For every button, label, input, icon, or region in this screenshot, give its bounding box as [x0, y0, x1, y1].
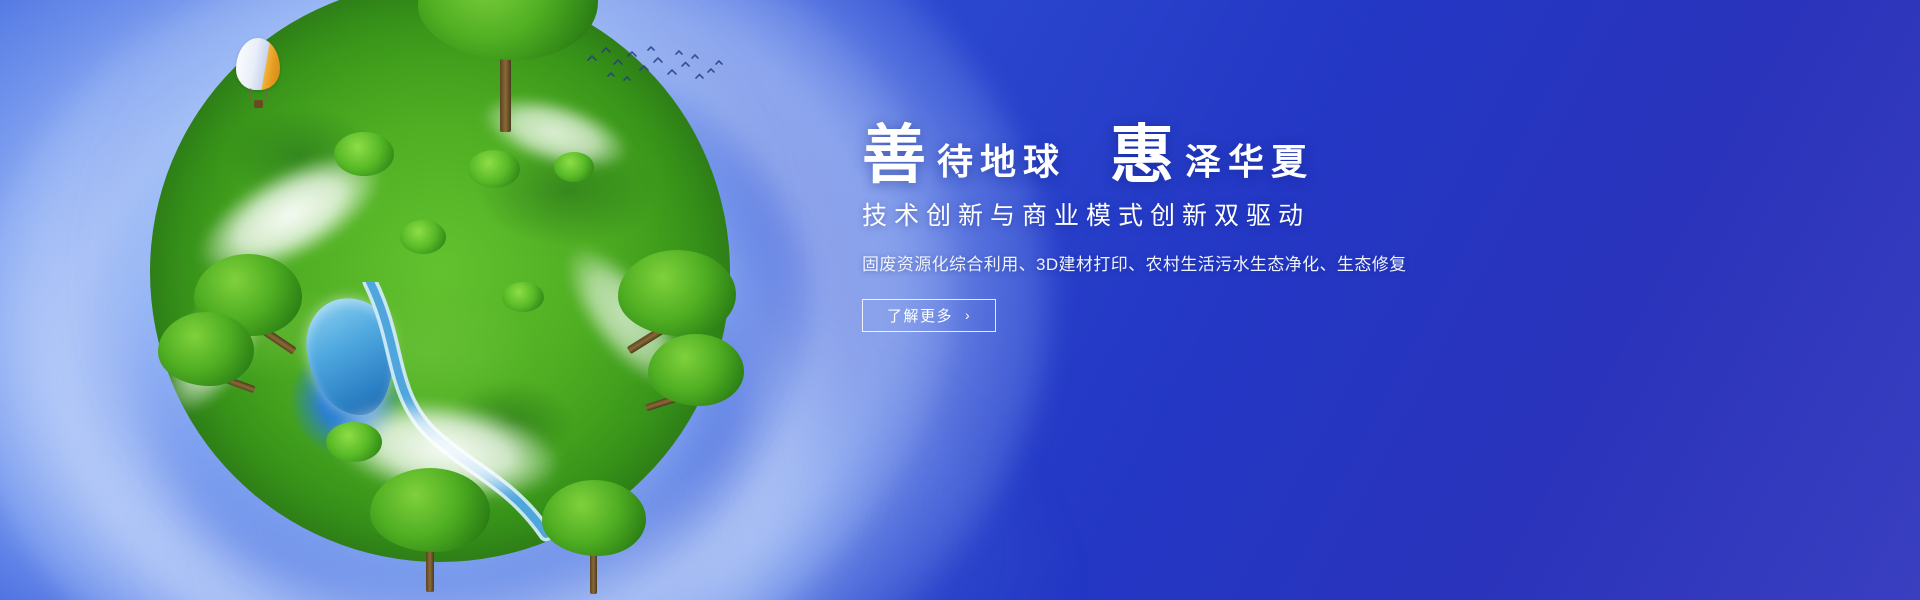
chevron-right-icon: › [965, 308, 971, 322]
shrub [554, 152, 594, 182]
tree [370, 468, 490, 588]
tree [418, 0, 598, 120]
shrub [468, 150, 520, 188]
banner-subtitle: 技术创新与商业模式创新双驱动 [862, 196, 1562, 232]
tree [158, 312, 254, 416]
shrub [334, 132, 394, 176]
shrub [400, 220, 446, 254]
hero-banner: 善 待地球 惠 泽华夏 技术创新与商业模式创新双驱动 固废资源化综合利用、3D建… [0, 0, 1920, 600]
shrub [502, 282, 544, 312]
headline-char-primary-2: 惠 [1110, 124, 1175, 188]
tree [542, 480, 646, 590]
learn-more-button[interactable]: 了解更多 › [862, 299, 996, 332]
page-title: 善 待地球 惠 泽华夏 [862, 120, 1562, 184]
hot-air-balloon-icon [236, 38, 280, 112]
learn-more-label: 了解更多 [887, 305, 953, 326]
banner-text-block: 善 待地球 惠 泽华夏 技术创新与商业模式创新双驱动 固废资源化综合利用、3D建… [862, 120, 1562, 332]
headline-char-primary-1: 善 [862, 124, 927, 188]
headline-text-2: 泽华夏 [1175, 144, 1314, 184]
banner-description: 固废资源化综合利用、3D建材打印、农村生活污水生态净化、生态修复 [862, 250, 1562, 275]
tree [648, 334, 744, 438]
headline-text-1: 待地球 [927, 144, 1066, 184]
bird-flock-icon [584, 44, 724, 90]
shrub [326, 422, 382, 462]
